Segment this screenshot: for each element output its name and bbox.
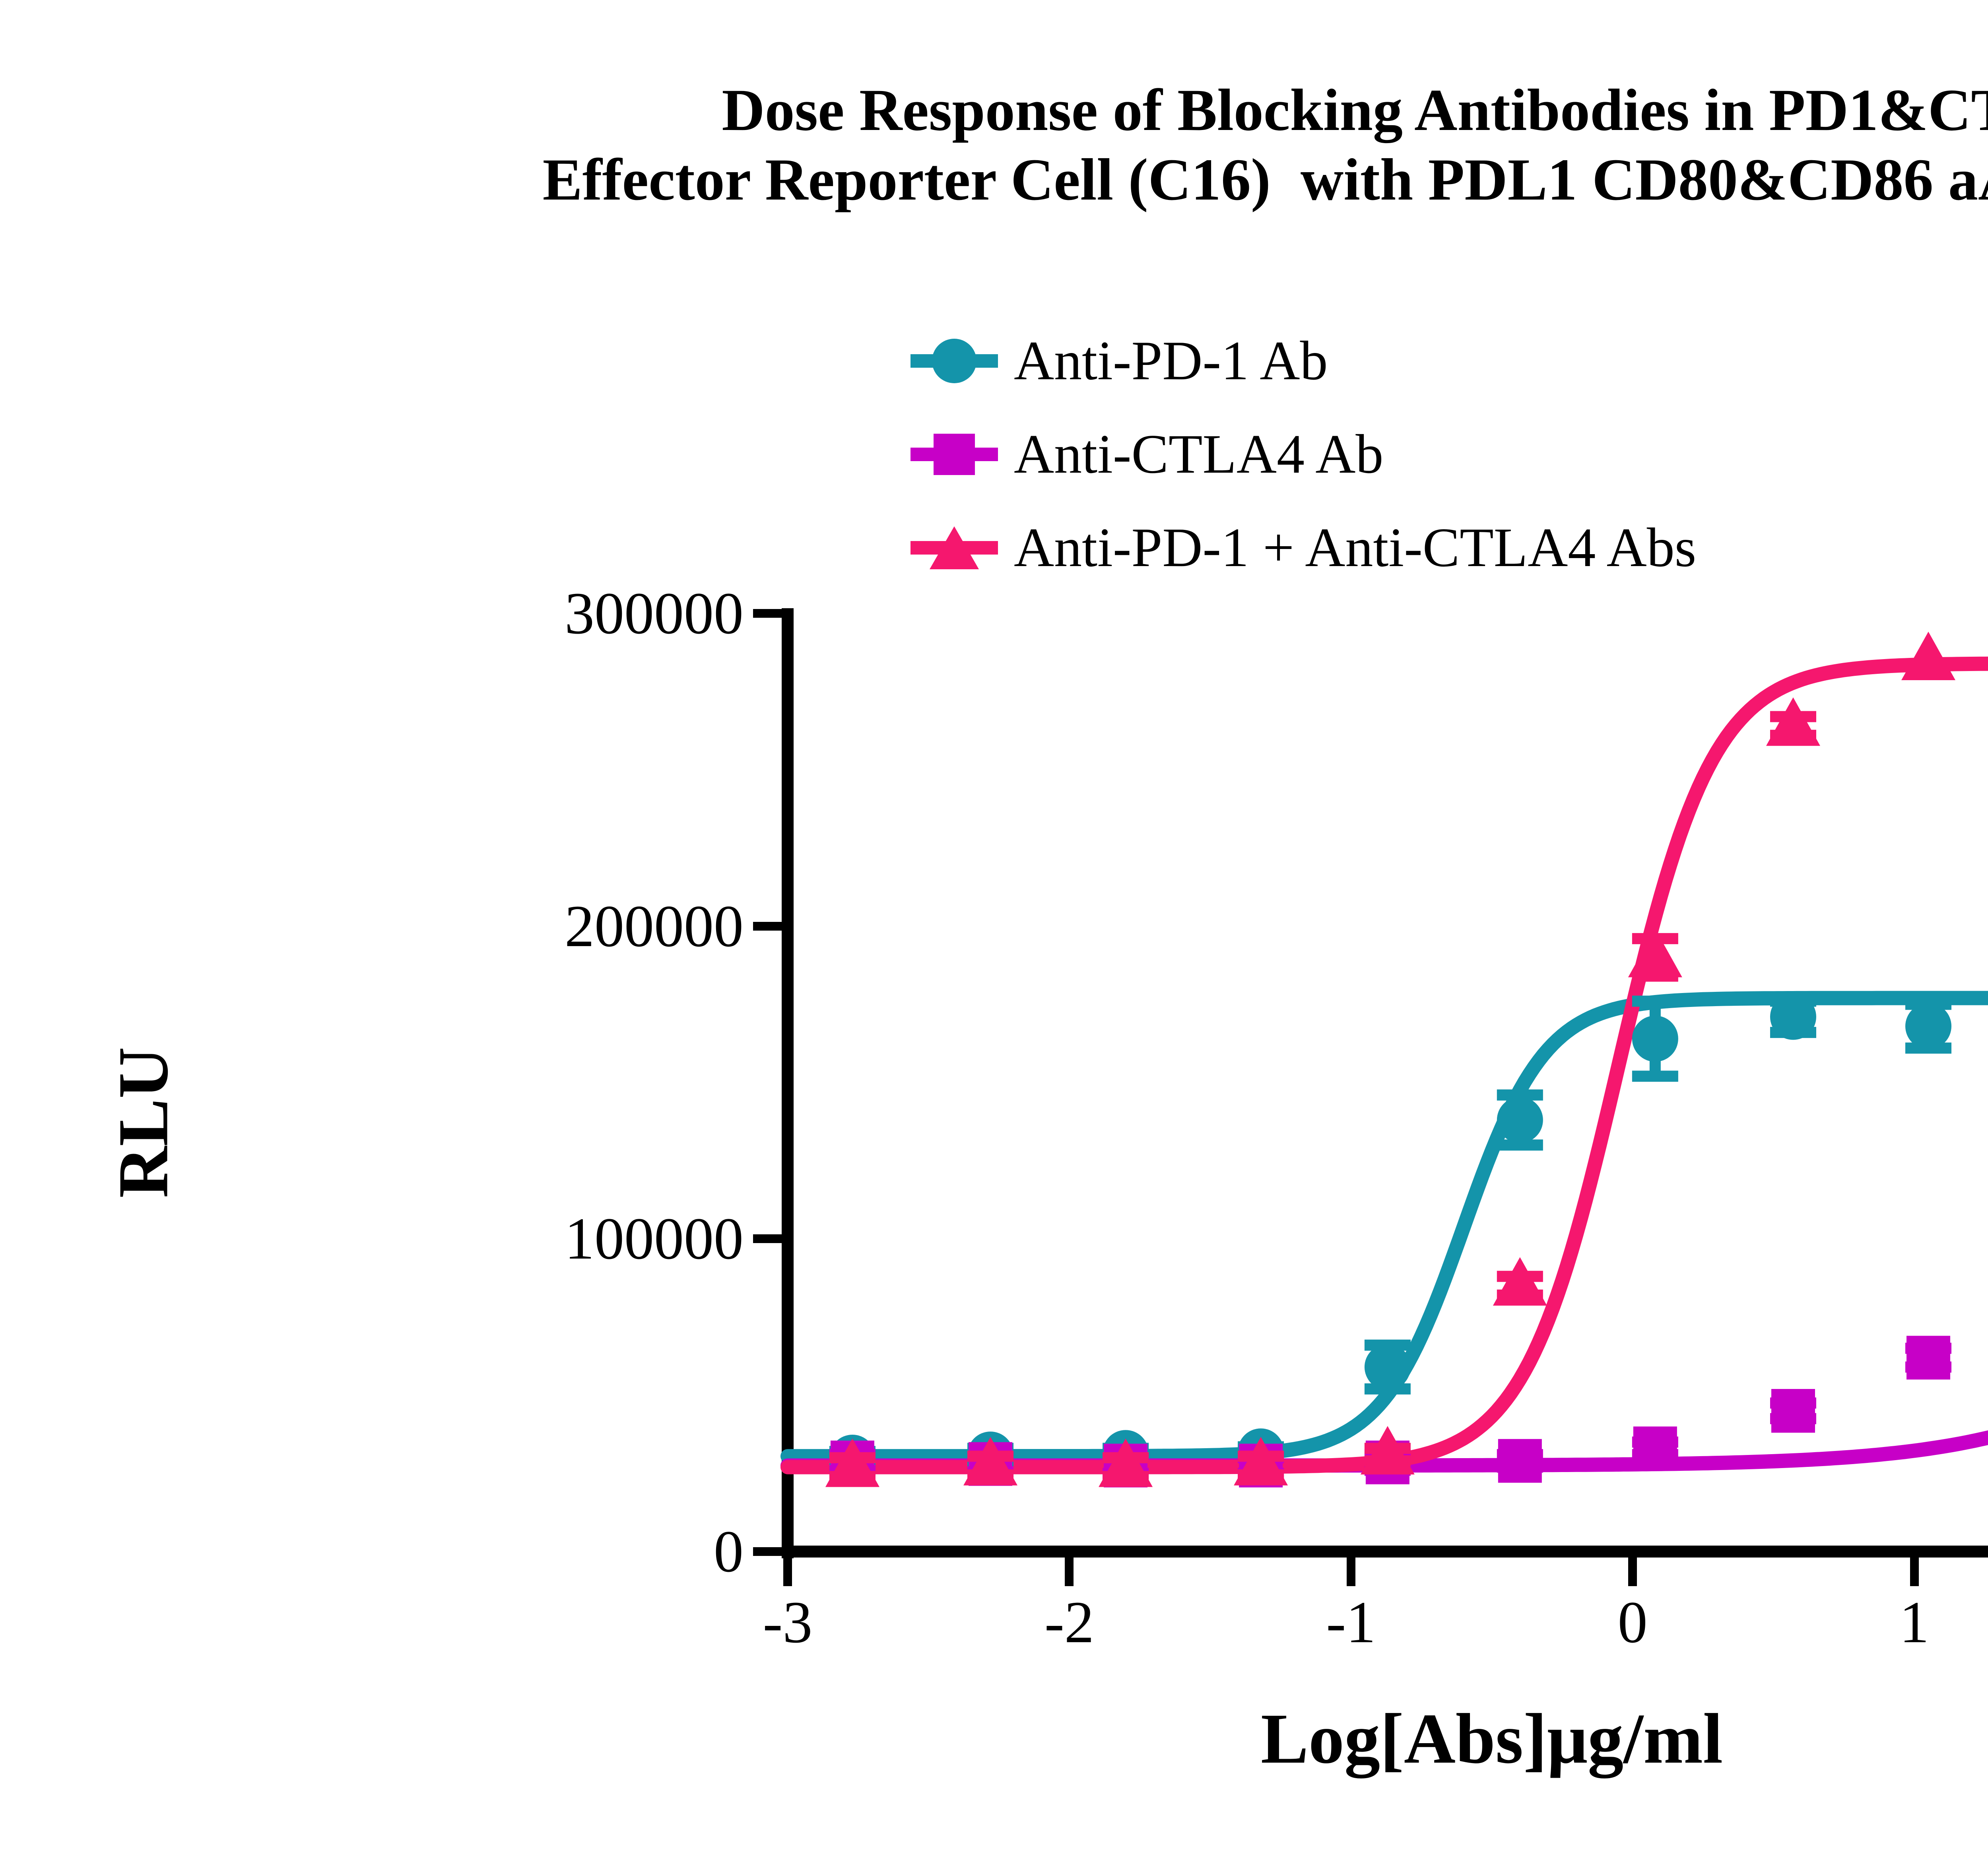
x-tick: [783, 1558, 792, 1586]
x-tick-label: 0: [1618, 1588, 1648, 1657]
y-tick: [753, 1547, 782, 1556]
y-axis-label: RLU: [102, 944, 184, 1302]
x-tick: [1347, 1558, 1355, 1586]
x-tick: [1910, 1558, 1919, 1586]
x-tick: [1628, 1558, 1637, 1586]
y-tick-label: 0: [714, 1517, 744, 1586]
x-tick-label: -3: [763, 1588, 813, 1657]
x-axis-line: [782, 1546, 1988, 1558]
x-tick: [1065, 1558, 1074, 1586]
y-axis-line: [782, 608, 794, 1558]
x-tick-label: -1: [1326, 1588, 1376, 1657]
y-tick-label: 200000: [565, 892, 744, 960]
chart-figure: Dose Response of Blocking Antibodies in …: [0, 0, 1988, 1866]
y-tick: [753, 609, 782, 618]
plot-area: 0100000200000300000-3-2-1012 RLU Log[Abs…: [0, 0, 1988, 1866]
x-tick-label: -2: [1044, 1588, 1094, 1657]
x-axis-label: Log[Abs]μg/ml: [782, 1697, 1988, 1780]
y-tick: [753, 1234, 782, 1243]
x-tick-label: 1: [1899, 1588, 1929, 1657]
y-tick-label: 100000: [565, 1205, 744, 1273]
y-tick-label: 300000: [565, 579, 744, 648]
y-tick: [753, 922, 782, 931]
